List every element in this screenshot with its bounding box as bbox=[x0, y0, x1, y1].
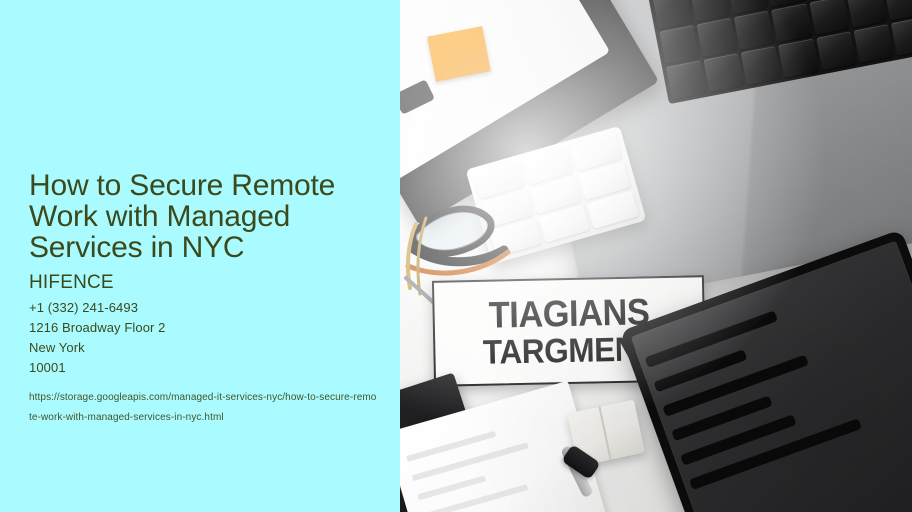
desk-lighting-overlay bbox=[400, 0, 912, 512]
page-title: How to Secure Remote Work with Managed S… bbox=[29, 170, 379, 263]
contact-phone: +1 (332) 241-6493 bbox=[29, 298, 379, 318]
source-url: https://storage.googleapis.com/managed-i… bbox=[29, 388, 377, 428]
contact-postal-code: 10001 bbox=[29, 358, 379, 378]
contact-city: New York bbox=[29, 338, 379, 358]
company-name: HIFENCE bbox=[29, 272, 379, 294]
left-text-panel: How to Secure Remote Work with Managed S… bbox=[0, 0, 400, 512]
contact-street: 1216 Broadway Floor 2 bbox=[29, 318, 379, 338]
slide-canvas: How to Secure Remote Work with Managed S… bbox=[0, 0, 912, 512]
desk-photo: TIAGIANS TARGMENT bbox=[400, 0, 912, 512]
text-block: How to Secure Remote Work with Managed S… bbox=[29, 170, 379, 428]
